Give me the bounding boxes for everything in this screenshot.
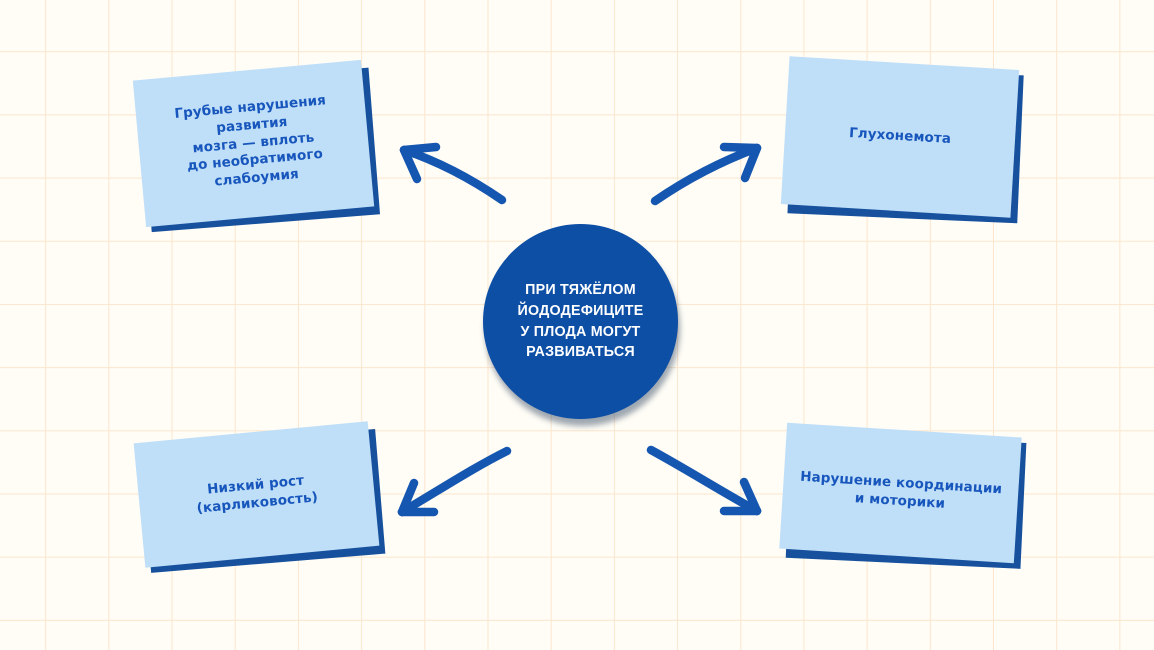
card-face: Грубые нарушения развития мозга — вплоть…: [133, 60, 374, 227]
arrow-to-top-left: [404, 147, 502, 200]
card-motor-coordination-label: Нарушение координации и моторики: [798, 469, 1002, 517]
center-hub-label: ПРИ ТЯЖЁЛОМ ЙОДОДЕФИЦИТЕ У ПЛОДА МОГУТ Р…: [518, 280, 644, 362]
center-hub: ПРИ ТЯЖЁЛОМ ЙОДОДЕФИЦИТЕ У ПЛОДА МОГУТ Р…: [483, 224, 678, 419]
card-brain-damage[interactable]: Грубые нарушения развития мозга — вплоть…: [133, 60, 374, 227]
card-brain-damage-label: Грубые нарушения развития мозга — вплоть…: [149, 90, 357, 197]
card-deaf-mutism-label: Глухонемота: [848, 125, 951, 149]
card-face: Нарушение координации и моторики: [779, 423, 1021, 564]
card-short-stature[interactable]: Низкий рост (карликовость): [134, 421, 380, 568]
arrow-to-bottom-left: [402, 451, 507, 512]
card-short-stature-label: Низкий рост (карликовость): [152, 467, 361, 522]
arrow-to-top-right: [655, 147, 757, 201]
card-face: Низкий рост (карликовость): [134, 421, 380, 568]
diagram-canvas: ПРИ ТЯЖЁЛОМ ЙОДОДЕФИЦИТЕ У ПЛОДА МОГУТ Р…: [0, 0, 1154, 650]
card-face: Глухонемота: [781, 56, 1019, 217]
card-deaf-mutism[interactable]: Глухонемота: [781, 56, 1019, 217]
card-motor-coordination[interactable]: Нарушение координации и моторики: [779, 423, 1021, 564]
arrow-to-bottom-right: [651, 450, 757, 511]
